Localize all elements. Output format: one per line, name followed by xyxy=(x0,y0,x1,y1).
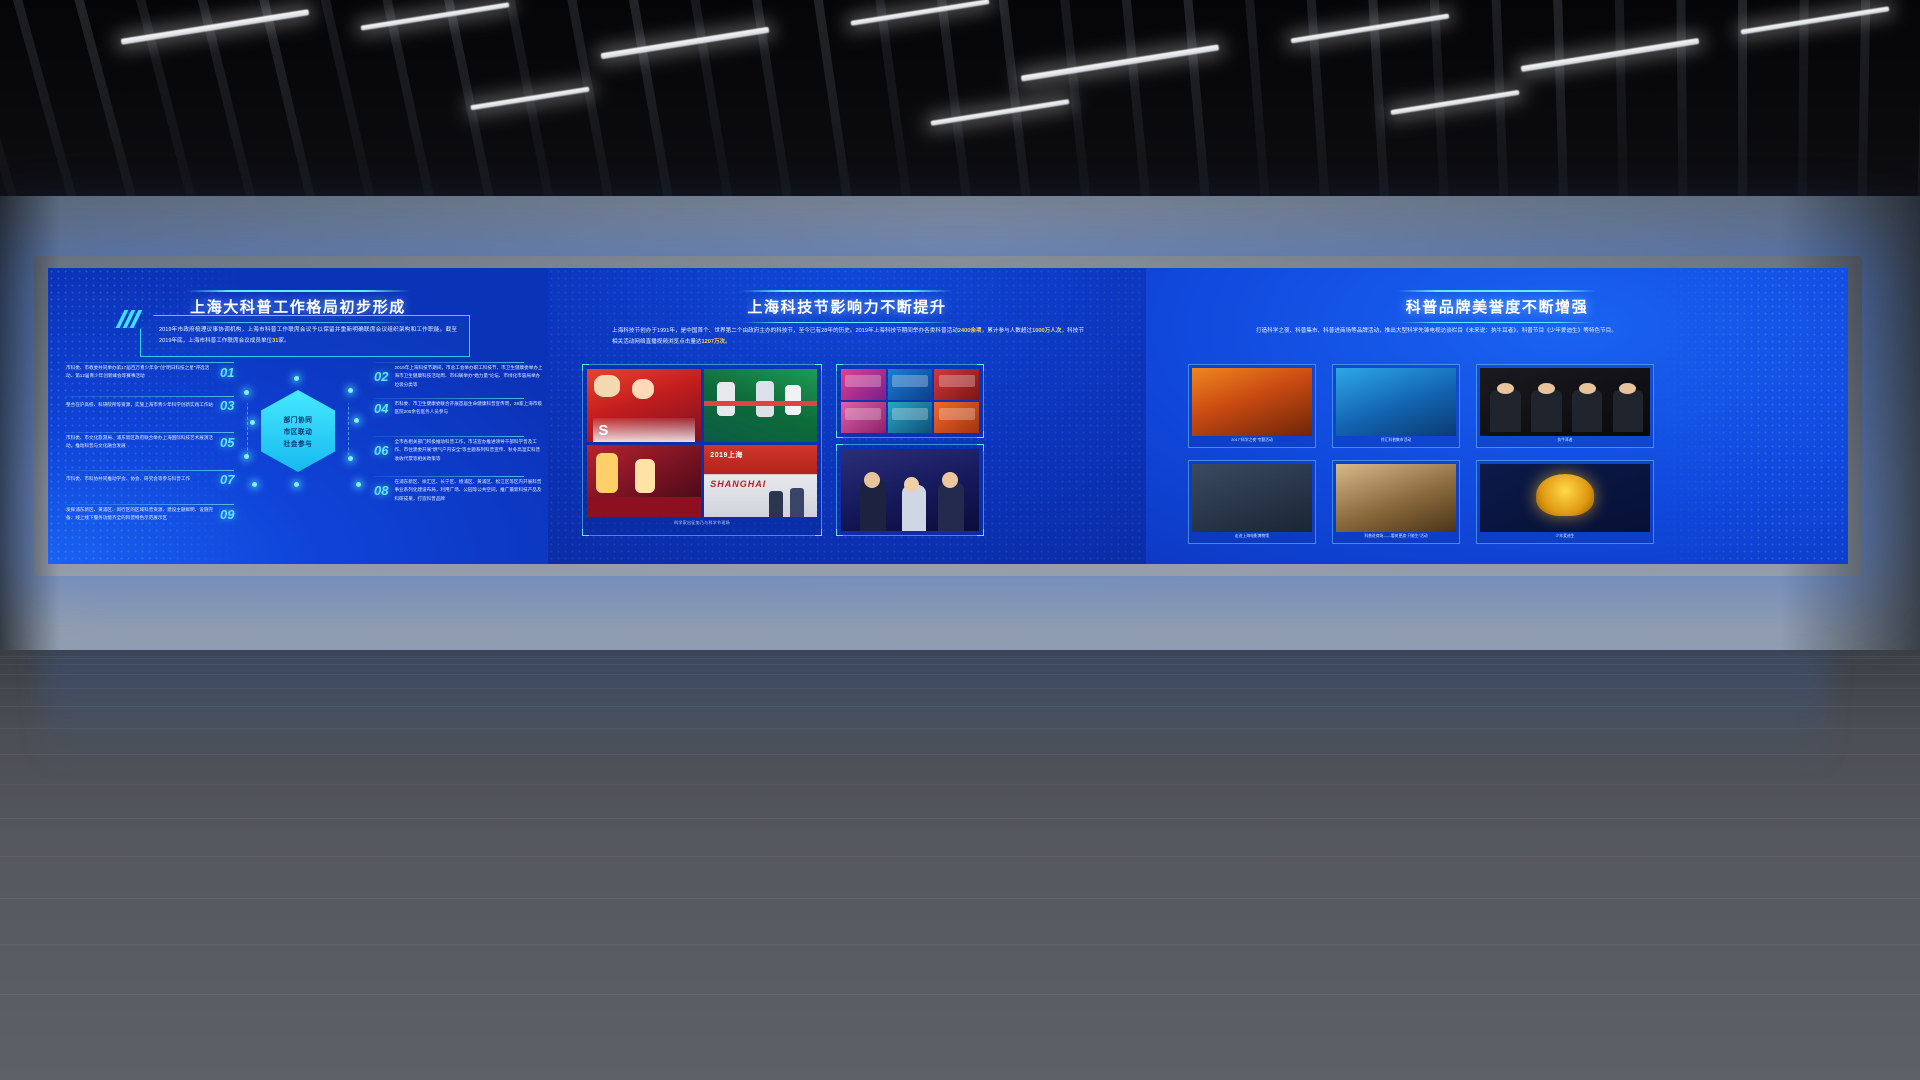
floor-seam xyxy=(0,818,1920,819)
item-number: 03 xyxy=(220,398,234,413)
zhiniuerzhe-tv-photo xyxy=(1480,368,1650,436)
item-number: 04 xyxy=(374,401,388,416)
item-text: 整合在沪高校、科研院所等资源，实施上海市青少年科学创新实践工作站 xyxy=(66,401,214,409)
panel-2: 上海科技节影响力不断提升 上海科技节创办于1991年，是中国首个、世界第二个由政… xyxy=(548,268,1146,564)
panel-2-title: 上海科技节影响力不断提升 xyxy=(721,290,972,323)
floor-seam xyxy=(0,994,1920,995)
photo-shanghai-banner: 2019上海 SHANGHAI xyxy=(704,445,818,518)
young-edison-photo xyxy=(1480,464,1650,532)
panel-3-cell-zhiniuerzhe-tv[interactable]: 执牛耳者 xyxy=(1476,364,1654,448)
floor-seam xyxy=(0,856,1920,857)
cell-caption: 少年爱迪生 xyxy=(1480,534,1650,539)
item-number: 07 xyxy=(220,472,234,487)
hub-line-3: 社会参与 xyxy=(284,438,313,448)
item-text: 全市各相关部门积极推动科普工作，市法宣办推进领导干部科学普及工作、市住建委开展"… xyxy=(394,438,544,463)
item-text: 市科委、市科协共同推动学会、协会、研究会等参与科普工作 xyxy=(66,475,214,483)
led-video-wall[interactable]: 上海大科普工作格局初步形成 2019年市政府梳理议事协调机构，上海市科普工作联席… xyxy=(48,268,1848,564)
item-number: 02 xyxy=(374,369,388,384)
hub-line-1: 部门协同 xyxy=(284,414,313,424)
photo-ribbon-cutting xyxy=(704,369,818,442)
panel-3-title-wrap: 科普品牌美誉度不断增强 xyxy=(1146,290,1848,323)
connector-node xyxy=(294,376,299,381)
panel-3-cell-kepu-market[interactable]: 徐汇科普集市活动 xyxy=(1332,364,1460,448)
item-text: 2019年上海科技节期间，市总工会举办职工科技节、市卫生健康委举办上海市卫生健康… xyxy=(394,364,544,389)
hub-line-2: 市区联动 xyxy=(284,426,313,436)
mall-science-photo xyxy=(1336,464,1456,532)
connector-node xyxy=(356,482,361,487)
item-text: 市科委、市文化旅游局、浦东新区政府联合举办上海国际科技艺术展演活动，推动科普与文… xyxy=(66,434,214,451)
connector-line xyxy=(374,436,524,437)
item-text: 市科委、市卫生健康委联合开展首届生命健康科普宣传周，38家上海市级医院200余名… xyxy=(394,400,544,417)
science-night-photo xyxy=(1192,368,1312,436)
connector-line xyxy=(374,476,524,477)
panel-3-cell-mall-science[interactable]: 科普进商场——看树更渡·只能生"活动 xyxy=(1332,460,1460,544)
connector-line xyxy=(66,396,234,397)
collage-tile-4 xyxy=(841,402,886,433)
connector-node xyxy=(250,420,255,425)
collage-tile-5 xyxy=(888,402,933,433)
panel-1-item-03[interactable]: 整合在沪高校、科研院所等资源，实施上海市青少年科学创新实践工作站03 xyxy=(66,398,234,413)
photo-block-main[interactable]: S 2019上海 SHANGHAI xyxy=(582,364,822,536)
connector-node xyxy=(348,456,353,461)
floor-seam xyxy=(0,784,1920,785)
item-number: 05 xyxy=(220,435,234,450)
panel-3-cell-science-night[interactable]: 2017"科学之夜"专题活动 xyxy=(1188,364,1316,448)
panel-1-intro-box: 2019年市政府梳理议事协调机构，上海市科普工作联席会议予以保留并重新明确联席会… xyxy=(140,315,470,357)
connector-line xyxy=(66,362,234,363)
item-number: 09 xyxy=(220,507,234,522)
panel-1-item-05[interactable]: 市科委、市文化旅游局、浦东新区政府联合举办上海国际科技艺术展演活动，推动科普与文… xyxy=(66,434,234,451)
panel-3: 科普品牌美誉度不断增强 打造科学之夜、科普集市、科普进商场等品牌活动，推出大型科… xyxy=(1146,268,1848,564)
connector-line xyxy=(374,398,524,399)
connector-line xyxy=(374,362,524,363)
panel-3-title: 科普品牌美誉度不断增强 xyxy=(1380,290,1615,323)
item-number: 06 xyxy=(374,443,388,458)
connector-node xyxy=(244,454,249,459)
panel-1-item-07[interactable]: 市科委、市科协共同推动学会、协会、研究会等参与科普工作07 xyxy=(66,472,234,487)
exhibition-scene: 上海大科普工作格局初步形成 2019年市政府梳理议事协调机构，上海市科普工作联席… xyxy=(0,0,1920,1080)
cell-caption: 走进上海电影博物馆 xyxy=(1192,534,1312,539)
panel-2-paragraph: 上海科技节创办于1991年，是中国首个、世界第二个由政府主办的科技节，至今已有2… xyxy=(612,326,1084,349)
item-number: 08 xyxy=(374,483,388,498)
panel-1-item-04[interactable]: 04市科委、市卫生健康委联合开展首届生命健康科普宣传周，38家上海市级医院200… xyxy=(374,400,544,417)
panel-3-paragraph-wrap: 打造科学之夜、科普集市、科普进商场等品牌活动，推出大型科学先锋电视访谈栏目《未来… xyxy=(1256,326,1756,337)
connector-line xyxy=(66,432,234,433)
panel-3-paragraph: 打造科学之夜、科普集市、科普进商场等品牌活动，推出大型科学先锋电视访谈栏目《未来… xyxy=(1256,326,1756,337)
connector-line xyxy=(66,470,234,471)
panel-1-item-02[interactable]: 022019年上海科技节期间，市总工会举办职工科技节、市卫生健康委举办上海市卫生… xyxy=(374,364,544,389)
ceiling-light xyxy=(601,27,770,60)
photo-opening-ceremony: S xyxy=(587,369,701,442)
panel-1-item-09[interactable]: 发挥浦东新区、黄浦区、闵行区的区域科普资源，建设主题鲜明、设施完备、线上线下服务… xyxy=(66,506,234,523)
panel-1-item-01[interactable]: 市科委、市教委共同举办第17届百万青少年争"创"明日科技之星"评选活动、第12届… xyxy=(66,364,234,381)
panel-1-item-08[interactable]: 08在浦东新区、徐汇区、长宁区、杨浦区、黄浦区、松江区等区内开展科普事业系列化建… xyxy=(374,478,544,503)
floor-seam xyxy=(0,944,1920,945)
item-text: 发挥浦东新区、黄浦区、闵行区的区域科普资源，建设主题鲜明、设施完备、线上线下服务… xyxy=(66,506,214,523)
cell-caption: 2017"科学之夜"专题活动 xyxy=(1192,438,1312,443)
panel-2-paragraph-wrap: 上海科技节创办于1991年，是中国首个、世界第二个由政府主办的科技节，至今已有2… xyxy=(612,326,1084,349)
film-museum-photo xyxy=(1192,464,1312,532)
panel-1-intro-text: 2019年市政府梳理议事协调机构，上海市科普工作联席会议予以保留并重新明确联席会… xyxy=(159,325,457,347)
item-text: 市科委、市教委共同举办第17届百万青少年争"创"明日科技之星"评选活动、第12届… xyxy=(66,364,214,381)
cell-caption: 执牛耳者 xyxy=(1480,438,1650,443)
photo-collage-grid[interactable] xyxy=(836,364,984,438)
collage-tile-6 xyxy=(934,402,979,433)
floor-seam xyxy=(0,898,1920,899)
kepu-market-photo xyxy=(1336,368,1456,436)
collage-tile-1 xyxy=(841,369,886,400)
collage-tile-3 xyxy=(934,369,979,400)
hub-hexagon: 部门协同 市区联动 社会参与 xyxy=(261,390,335,472)
photo-red-carpet xyxy=(587,445,701,518)
collage-tile-2 xyxy=(888,369,933,400)
floor-reflection xyxy=(40,650,1830,770)
connector-line xyxy=(66,504,234,505)
ceiling-light xyxy=(850,0,989,26)
item-number: 01 xyxy=(220,365,234,380)
cell-caption: 徐汇科普集市活动 xyxy=(1336,438,1456,443)
panel-3-cell-film-museum[interactable]: 走进上海电影博物馆 xyxy=(1188,460,1316,544)
panel-1: 上海大科普工作格局初步形成 2019年市政府梳理议事协调机构，上海市科普工作联席… xyxy=(48,268,548,564)
connector-node xyxy=(252,482,257,487)
photo-award-handshake[interactable] xyxy=(836,444,984,536)
panel-2-title-wrap: 上海科技节影响力不断提升 xyxy=(548,290,1146,323)
connector-node xyxy=(294,482,299,487)
cell-caption: 科普进商场——看树更渡·只能生"活动 xyxy=(1336,534,1456,539)
connector-node xyxy=(348,388,353,393)
handshake-photo xyxy=(841,449,979,531)
ceiling-light xyxy=(1521,38,1700,72)
photo-block-caption: 科学家出征加乃与科学节现场 xyxy=(587,520,817,526)
connector-node xyxy=(354,418,359,423)
panel-3-cell-young-edison[interactable]: 少年爱迪生 xyxy=(1476,460,1654,544)
item-text: 在浦东新区、徐汇区、长宁区、杨浦区、黄浦区、松江区等区内开展科普事业系列化建设布… xyxy=(394,478,544,503)
panel-1-item-06[interactable]: 06全市各相关部门积极推动科普工作，市法宣办推进领导干部科学普及工作、市住建委开… xyxy=(374,438,544,463)
connector-node xyxy=(244,390,249,395)
ceiling-light xyxy=(361,2,510,30)
